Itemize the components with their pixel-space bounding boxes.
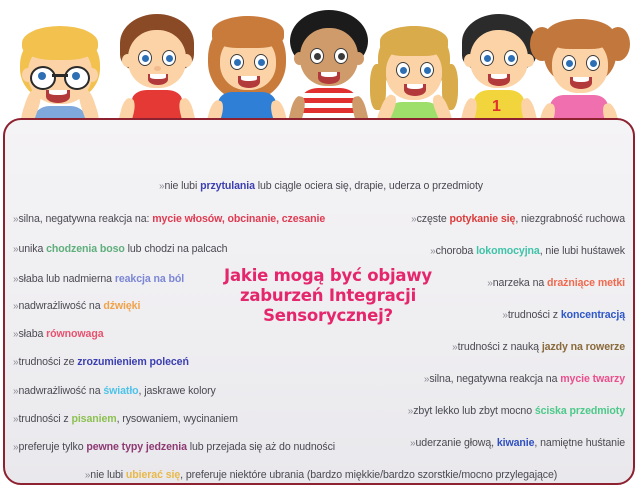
symptom-left-7: »nadwrażliwość na światło, jaskrawe kolo… <box>13 385 216 398</box>
symptom-text-pre: nie lubi <box>164 180 200 192</box>
symptom-highlight: pisaniem <box>71 413 116 425</box>
symptom-right-6: »silna, negatywna reakcja na mycie twarz… <box>424 373 625 386</box>
symptom-highlight: przytulania <box>200 180 255 192</box>
poster-title-line-1: Jakie mogą być objawy <box>224 266 432 285</box>
symptom-highlight: mycie włosów, obcinanie, czesanie <box>152 213 325 225</box>
mouth <box>148 74 168 85</box>
eye-right <box>334 48 348 64</box>
symptom-highlight: koncentracją <box>561 309 625 321</box>
symptom-left-9: »preferuje tylko pewne typy jedzenia lub… <box>13 441 335 454</box>
symptom-right-4: »trudności z koncentracją <box>502 309 625 322</box>
eye-right <box>254 54 268 70</box>
symptom-highlight: dźwięki <box>103 300 140 312</box>
mouth <box>46 90 70 103</box>
eye-left <box>396 62 410 78</box>
symptom-text-pre: częste <box>417 213 450 225</box>
poster-title: Jakie mogą być objawy zaburzeń Integracj… <box>178 266 478 326</box>
symptom-text-pre: trudności z <box>508 309 561 321</box>
mouth <box>318 72 340 84</box>
symptom-highlight: mycie twarzy <box>560 373 625 385</box>
symptom-right-8: »uderzanie głową, kiwanie, namiętne huśt… <box>410 437 625 450</box>
symptom-right-1: »częste potykanie się, niezgrabność ruch… <box>411 213 625 226</box>
symptom-text-pre: nadwrażliwość na <box>18 385 103 397</box>
symptom-text-pre: trudności ze <box>18 356 77 368</box>
symptom-text-post: , nie lubi huśtawek <box>540 245 625 257</box>
symptom-text-pre: unika <box>18 243 46 255</box>
symptom-text-post: lub ciągle ociera się, drapie, uderza o … <box>255 180 483 192</box>
symptom-highlight: drażniące metki <box>547 277 625 289</box>
eye-left <box>230 54 244 70</box>
hair-fringe <box>546 19 614 49</box>
symptom-right-2: »choroba lokomocyjna, nie lubi huśtawek <box>430 245 625 258</box>
symptom-text-post: , rysowaniem, wycinaniem <box>117 413 238 425</box>
symptom-left-5: »słaba równowaga <box>13 328 104 341</box>
symptom-text-post: lub chodzi na palcach <box>125 243 228 255</box>
symptom-left-2: »unika chodzenia boso lub chodzi na palc… <box>13 243 227 256</box>
symptom-text-pre: słaba <box>18 328 46 340</box>
symptom-text-post: , niezgrabność ruchowa <box>515 213 625 225</box>
hair-fringe <box>22 26 98 60</box>
symptom-text-pre: nie lubi <box>90 469 126 481</box>
symptom-left-6: »trudności ze zrozumieniem poleceń <box>13 356 189 369</box>
mouth <box>488 74 510 86</box>
eye-left <box>480 50 494 66</box>
eye-right <box>162 50 176 66</box>
symptom-text-pre: nadwrażliwość na <box>18 300 103 312</box>
eye-right <box>586 55 600 71</box>
symptom-text-pre: zbyt lekko lub zbyt mocno <box>413 405 535 417</box>
symptom-text-pre: narzeka na <box>493 277 547 289</box>
vest-number: 1 <box>492 98 501 116</box>
symptom-text-pre: silna, negatywna reakcja na <box>429 373 560 385</box>
symptom-text-post: lub przejada się aż do nudności <box>187 441 335 453</box>
symptom-right-7: »zbyt lekko lub zbyt mocno ściska przedm… <box>408 405 625 418</box>
symptom-highlight: pewne typy jedzenia <box>86 441 187 453</box>
symptom-text-pre: słaba lub nadmierna <box>18 273 114 285</box>
symptom-left-3: »słaba lub nadmierna reakcja na ból <box>13 273 184 286</box>
mouth <box>238 76 260 88</box>
symptom-left-4: »nadwrażliwość na dźwięki <box>13 300 140 313</box>
symptom-left-8: »trudności z pisaniem, rysowaniem, wycin… <box>13 413 238 426</box>
ear-left <box>122 54 133 67</box>
symptom-text-pre: choroba <box>436 245 476 257</box>
glasses-icon <box>30 66 90 86</box>
symptom-text-pre: trudności z <box>18 413 71 425</box>
symptom-top-line: »nie lubi przytulania lub ciągle ociera … <box>5 180 637 193</box>
poster-title-line-2: zaburzeń Integracji Sensorycznej? <box>178 286 478 326</box>
eye-left <box>310 48 324 64</box>
symptom-text-post: , namiętne huśtanie <box>534 437 625 449</box>
symptom-right-5: »trudności z nauką jazdy na rowerze <box>452 341 625 354</box>
nose <box>154 66 161 71</box>
ear-right <box>181 54 192 67</box>
symptom-text-post: , preferuje niektóre ubrania (bardzo mię… <box>180 469 557 481</box>
symptom-text-pre: uderzanie głową, <box>416 437 497 449</box>
symptom-text-pre: silna, negatywna reakcja na: <box>18 213 152 225</box>
eye-left <box>562 55 576 71</box>
symptom-highlight: światło <box>103 385 138 397</box>
ear-left <box>464 54 475 67</box>
symptom-highlight: zrozumieniem poleceń <box>77 356 189 368</box>
symptom-highlight: lokomocyjna <box>476 245 540 257</box>
symptom-right-3: »narzeka na drażniące metki <box>487 277 625 290</box>
symptom-left-1: »silna, negatywna reakcja na: mycie włos… <box>13 213 325 226</box>
symptom-highlight: kiwanie <box>497 437 535 449</box>
symptom-highlight: potykanie się <box>449 213 515 225</box>
eye-right <box>420 62 434 78</box>
symptom-highlight: chodzenia boso <box>46 243 125 255</box>
symptom-text-pre: trudności z nauką <box>458 341 542 353</box>
symptom-bottom-line: »nie lubi ubierać się, preferuje niektór… <box>5 469 637 482</box>
symptom-text-post: , jaskrawe kolory <box>139 385 216 397</box>
symptom-text-pre: preferuje tylko <box>18 441 86 453</box>
eye-left <box>138 50 152 66</box>
symptom-highlight: jazdy na rowerze <box>542 341 625 353</box>
symptom-highlight: ubierać się <box>126 469 180 481</box>
mouth <box>570 77 592 89</box>
symptom-highlight: równowaga <box>46 328 103 340</box>
symptom-highlight: reakcja na ból <box>115 273 184 285</box>
mouth <box>404 84 426 96</box>
hair-fringe <box>380 26 448 56</box>
symptom-highlight: ściska przedmioty <box>535 405 625 417</box>
ear-left <box>294 52 305 65</box>
eye-right <box>504 50 518 66</box>
